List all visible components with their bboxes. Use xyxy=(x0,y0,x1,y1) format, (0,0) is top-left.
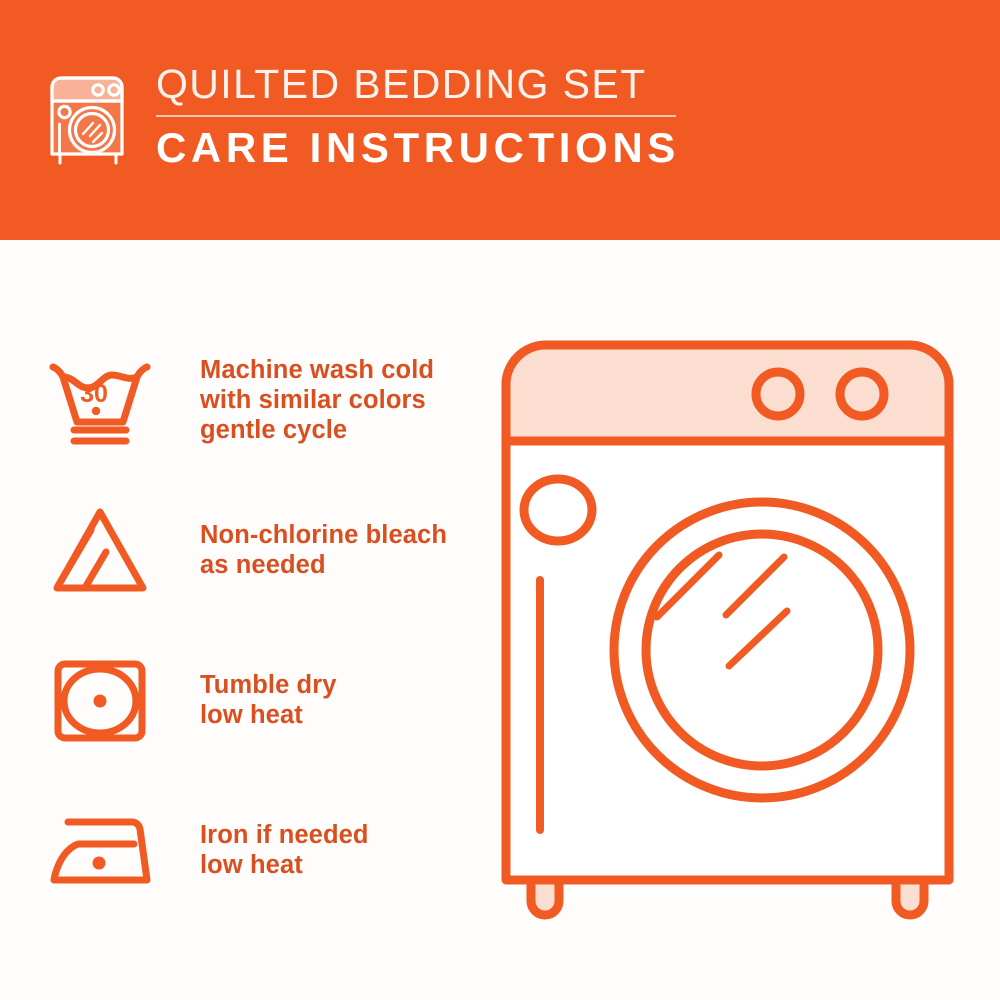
header-banner: QUILTED BEDDING SET CARE INSTRUCTIONS xyxy=(0,0,1000,240)
care-line: Iron if needed xyxy=(200,820,369,850)
main-content: 30 Machine wash cold with similar colors… xyxy=(0,240,1000,1000)
iron-low-heat-icon xyxy=(40,795,160,905)
care-row-iron: Iron if needed low heat xyxy=(40,775,470,925)
care-row-bleach: Non-chlorine bleach as needed xyxy=(40,475,470,625)
care-label-iron: Iron if needed low heat xyxy=(200,820,369,880)
care-line: Machine wash cold xyxy=(200,355,434,385)
care-line: Tumble dry xyxy=(200,670,337,700)
care-instruction-list: 30 Machine wash cold with similar colors… xyxy=(40,325,470,925)
page-title: QUILTED BEDDING SET xyxy=(156,62,680,106)
care-instructions-infographic: QUILTED BEDDING SET CARE INSTRUCTIONS xyxy=(0,0,1000,1000)
non-chlorine-bleach-triangle-icon xyxy=(40,495,160,605)
care-line: low heat xyxy=(200,700,337,730)
washing-machine-illustration xyxy=(490,330,980,940)
tumble-dry-low-heat-icon xyxy=(40,645,160,755)
title-divider xyxy=(156,115,676,117)
care-row-machine-wash: 30 Machine wash cold with similar colors… xyxy=(40,325,470,475)
header-title-block: QUILTED BEDDING SET CARE INSTRUCTIONS xyxy=(156,62,680,171)
wash-temperature-label: 30 xyxy=(80,380,108,408)
page-subtitle: CARE INSTRUCTIONS xyxy=(156,125,680,171)
machine-wash-30-gentle-icon: 30 xyxy=(40,345,160,455)
care-row-tumble-dry: Tumble dry low heat xyxy=(40,625,470,775)
care-line: gentle cycle xyxy=(200,415,434,445)
care-line: low heat xyxy=(200,850,369,880)
care-line: as needed xyxy=(200,550,447,580)
care-line: Non-chlorine bleach xyxy=(200,520,447,550)
header-content: QUILTED BEDDING SET CARE INSTRUCTIONS xyxy=(46,62,680,173)
care-label-machine-wash: Machine wash cold with similar colors ge… xyxy=(200,355,434,445)
care-label-bleach: Non-chlorine bleach as needed xyxy=(200,520,447,580)
care-line: with similar colors xyxy=(200,385,434,415)
care-label-tumble-dry: Tumble dry low heat xyxy=(200,670,337,730)
washing-machine-icon xyxy=(46,68,128,173)
